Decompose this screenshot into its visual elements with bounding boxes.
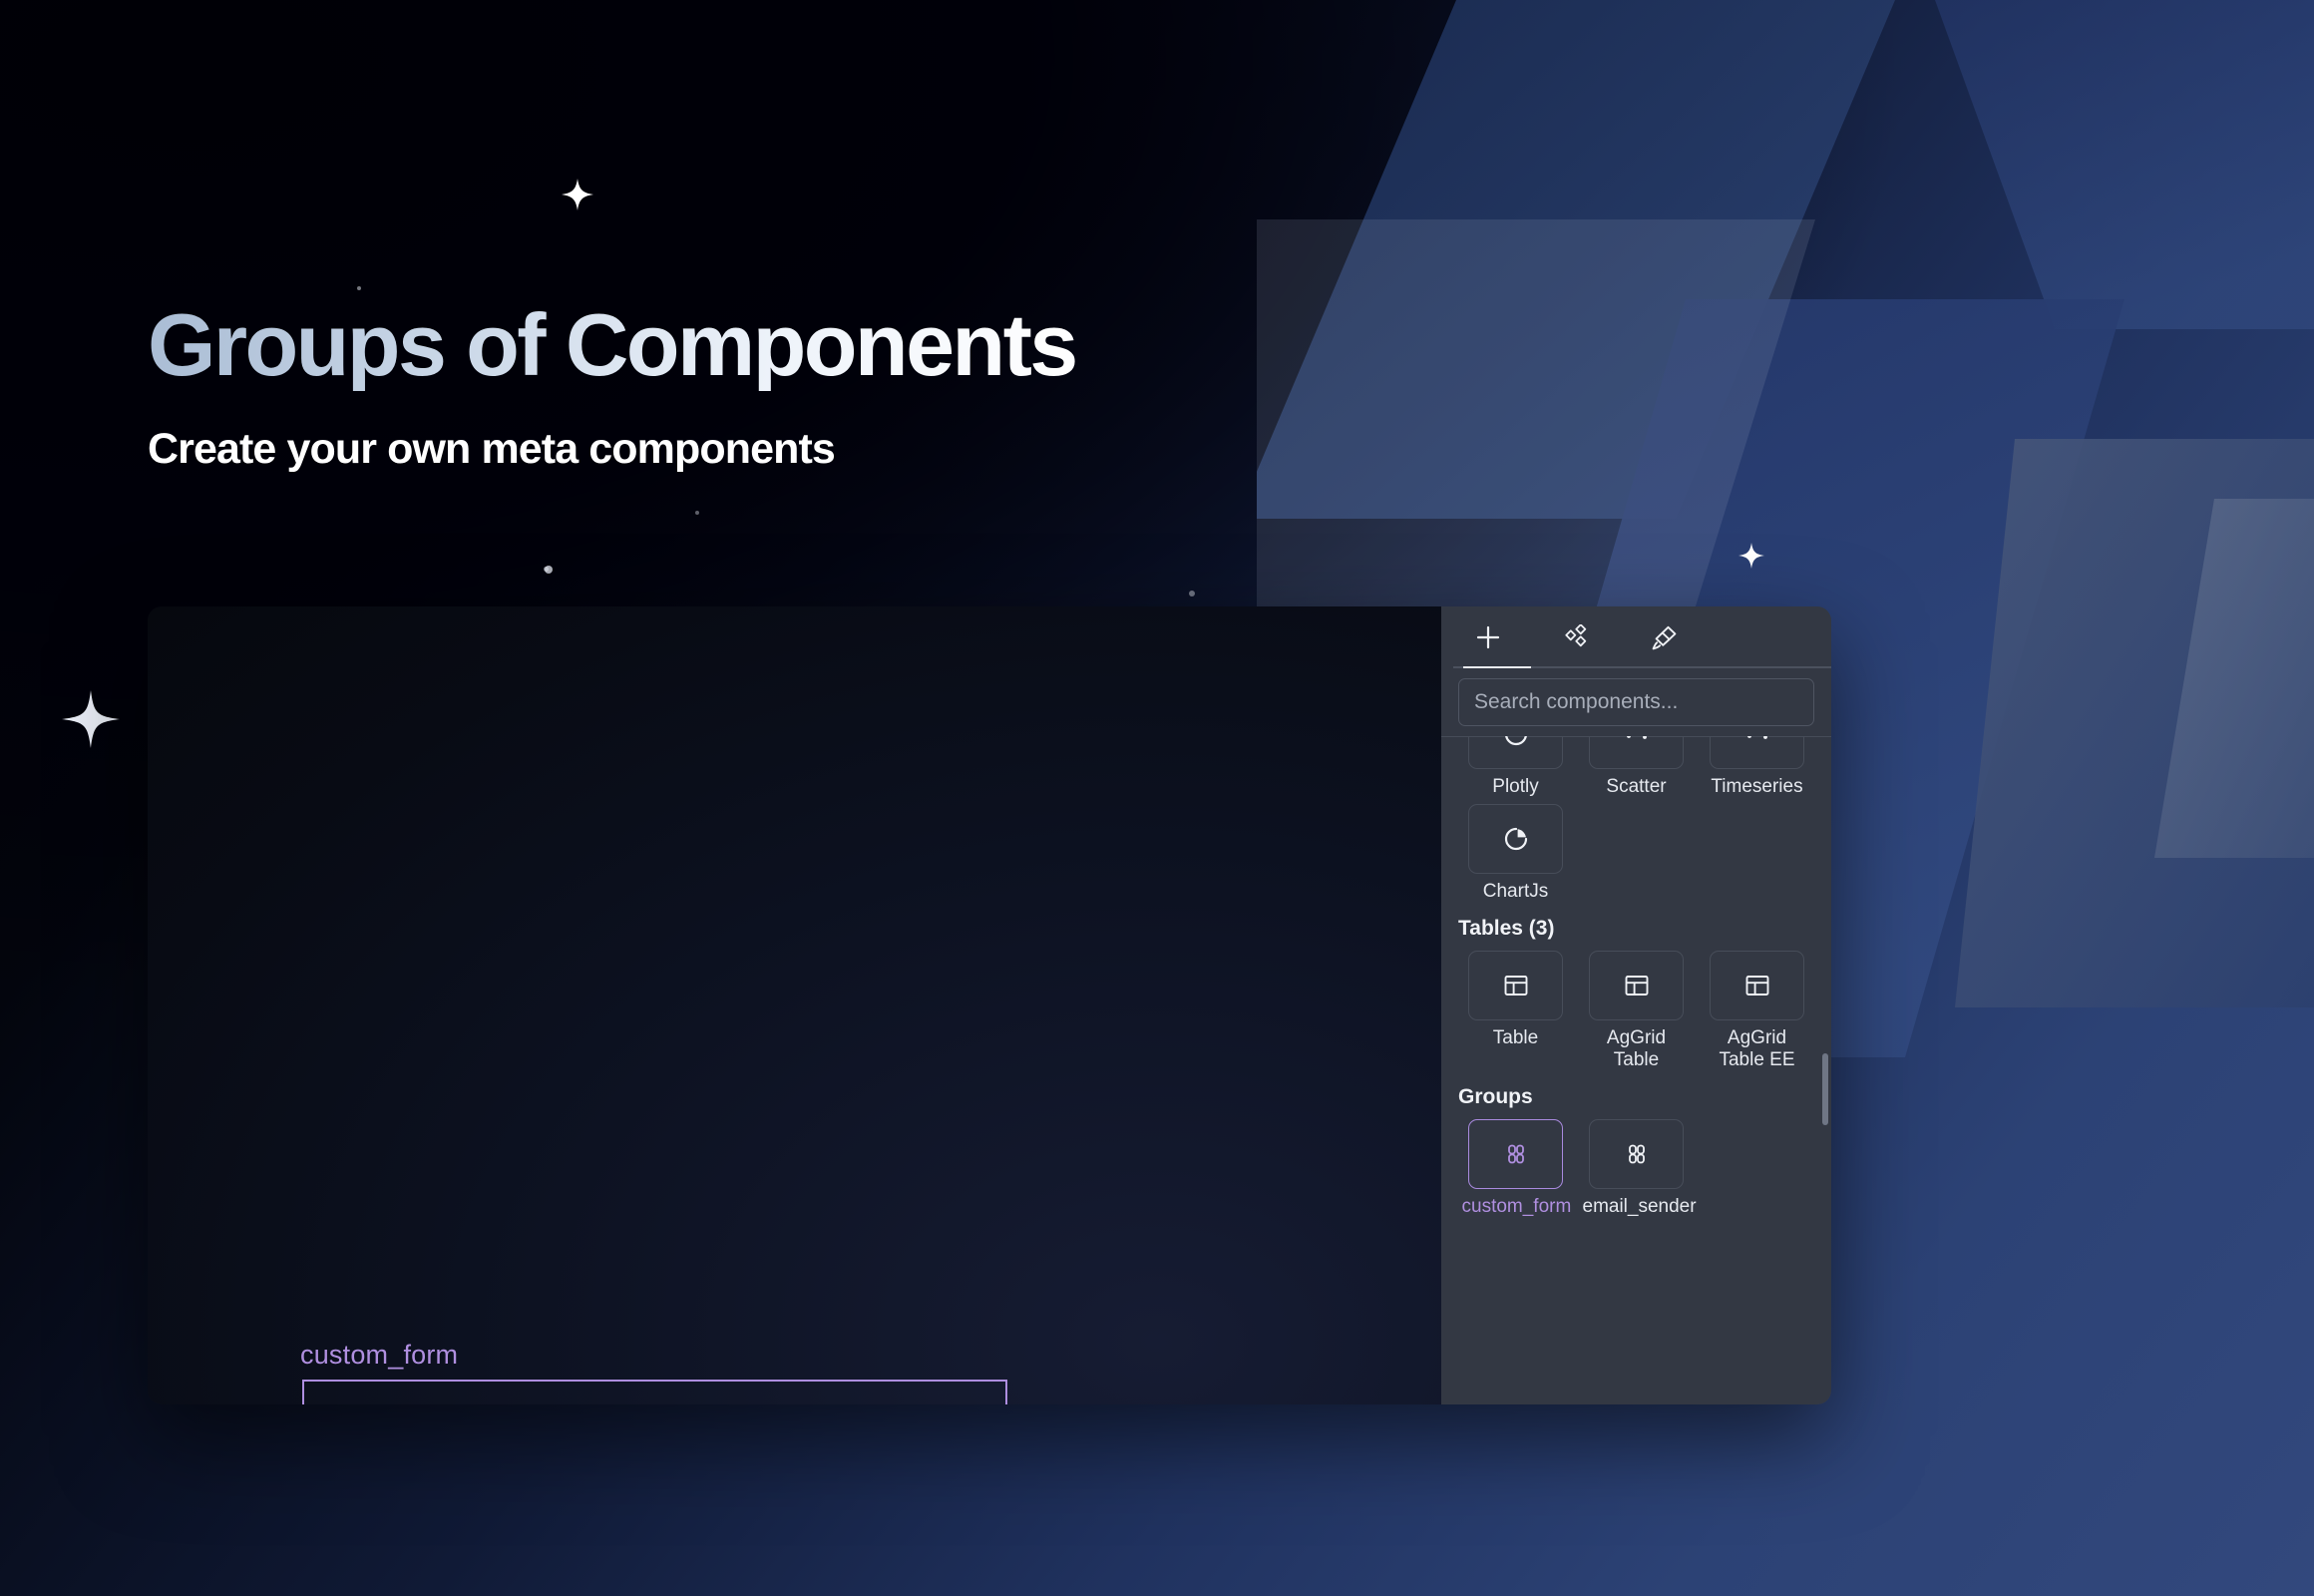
component-label: AgGrid Table [1583, 1027, 1691, 1071]
component-group-email-sender[interactable]: email_sender [1579, 1119, 1694, 1218]
component-label: custom_form [1462, 1196, 1570, 1218]
component-aggrid-table-ee[interactable]: AgGrid Table EE [1700, 951, 1814, 1071]
component-tile [1589, 1119, 1684, 1189]
component-plotly[interactable]: Plotly [1458, 736, 1573, 796]
sidebar-scrollbar-thumb[interactable] [1822, 1053, 1828, 1125]
group-blocks-icon [1501, 1139, 1531, 1169]
table-icon [1501, 971, 1531, 1000]
scatter-dots-icon [1621, 736, 1653, 750]
component-label: AgGrid Table EE [1704, 1027, 1811, 1071]
component-label: Plotly [1492, 776, 1538, 796]
component-group-custom-form[interactable]: custom_form [1458, 1119, 1573, 1218]
component-aggrid-table[interactable]: AgGrid Table [1579, 951, 1694, 1071]
group-blocks-icon [1622, 1139, 1652, 1169]
scatter-dots-icon [1741, 736, 1773, 750]
page-subtitle: Create your own meta components [148, 425, 1076, 474]
app-window: custom_form Hello user! Describe your ex… [148, 606, 1831, 1404]
diamonds-icon [1563, 624, 1589, 650]
plus-icon [1475, 624, 1501, 650]
component-timeseries[interactable]: Timeseries [1700, 736, 1814, 796]
component-tile [1468, 736, 1563, 769]
charts-row-2: ChartJs [1458, 804, 1814, 903]
component-tile [1468, 951, 1563, 1020]
component-list[interactable]: Plotly Scatter C [1441, 736, 1831, 1395]
component-sidebar: Plotly Scatter C [1441, 606, 1831, 1404]
custom-form-group[interactable]: Hello user! Describe your experience... … [302, 1380, 1007, 1404]
canvas-area[interactable]: custom_form Hello user! Describe your ex… [148, 606, 1441, 1404]
component-table[interactable]: Table [1458, 951, 1573, 1071]
donut-chart-icon [1500, 736, 1532, 750]
tabs-underline [1453, 666, 1831, 668]
component-tile [1468, 1119, 1563, 1189]
table-icon [1742, 971, 1772, 1000]
add-component-tab[interactable] [1469, 618, 1507, 656]
section-title-tables: Tables (3) [1458, 917, 1814, 941]
component-label: Timeseries [1711, 776, 1802, 796]
hero: Groups of Components Create your own met… [148, 299, 1076, 474]
component-label: Table [1493, 1027, 1538, 1049]
tables-grid: Table AgGrid Table [1458, 951, 1814, 1071]
search-input[interactable] [1458, 678, 1814, 726]
table-icon [1622, 971, 1652, 1000]
charts-row-clipped: Plotly Scatter C [1458, 736, 1814, 796]
group-name-label: custom_form [300, 1340, 458, 1371]
component-scatter-chart[interactable]: Scatter Chart [1579, 736, 1694, 796]
component-tile [1589, 736, 1684, 769]
component-tile [1710, 951, 1804, 1020]
search-wrapper [1441, 668, 1831, 726]
component-chartjs[interactable]: ChartJs [1458, 804, 1573, 903]
page-root: Groups of Components Create your own met… [0, 0, 2314, 1596]
component-tile [1589, 951, 1684, 1020]
groups-grid: custom_form [1458, 1119, 1814, 1218]
components-tab[interactable] [1557, 618, 1595, 656]
sidebar-tabs [1441, 606, 1831, 668]
component-tile [1710, 736, 1804, 769]
component-label: Scatter Chart [1583, 776, 1691, 796]
page-title: Groups of Components [148, 299, 1076, 391]
component-label: ChartJs [1483, 881, 1548, 903]
pie-chart-icon [1500, 823, 1532, 855]
styling-tab[interactable] [1645, 618, 1683, 656]
component-tile [1468, 804, 1563, 874]
component-label: email_sender [1583, 1196, 1691, 1218]
paintbrush-icon [1651, 624, 1678, 651]
section-title-groups: Groups [1458, 1085, 1814, 1109]
